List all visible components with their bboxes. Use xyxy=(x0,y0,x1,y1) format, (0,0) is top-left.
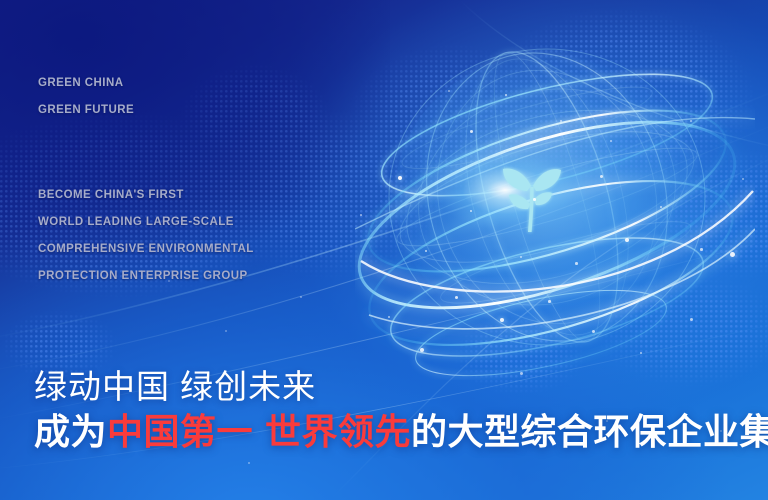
sprout-seedling-icon xyxy=(497,160,567,240)
tagline-en-line-3: BECOME CHINA'S FIRST xyxy=(38,182,254,209)
tagline-en-line-2: GREEN FUTURE xyxy=(38,97,134,124)
tagline-en-line-5: COMPREHENSIVE ENVIRONMENTAL xyxy=(38,236,254,263)
headline-cn-highlight-2: 世界领先 xyxy=(265,411,411,452)
tagline-en-secondary: BECOME CHINA'S FIRST WORLD LEADING LARGE… xyxy=(38,182,254,290)
wireframe-globe xyxy=(355,15,755,380)
headline-cn: 绿动中国 绿创未来 成为中国第一世界领先的大型综合环保企业集团 xyxy=(34,366,768,456)
tagline-en-line-6: PROTECTION ENTERPRISE GROUP xyxy=(38,263,254,290)
tagline-en-primary: GREEN CHINA GREEN FUTURE xyxy=(38,70,134,124)
headline-cn-prefix: 成为 xyxy=(34,411,107,452)
headline-cn-line-1: 绿动中国 绿创未来 xyxy=(34,366,768,408)
headline-cn-line-2: 成为中国第一世界领先的大型综合环保企业集团 xyxy=(34,408,768,456)
hero-banner: GREEN CHINA GREEN FUTURE BECOME CHINA'S … xyxy=(0,0,768,500)
tagline-en-line-4: WORLD LEADING LARGE-SCALE xyxy=(38,209,254,236)
headline-cn-suffix: 的大型综合环保企业集团 xyxy=(411,411,768,452)
tagline-en-line-1: GREEN CHINA xyxy=(38,70,134,97)
headline-cn-highlight-1: 中国第一 xyxy=(107,411,253,452)
